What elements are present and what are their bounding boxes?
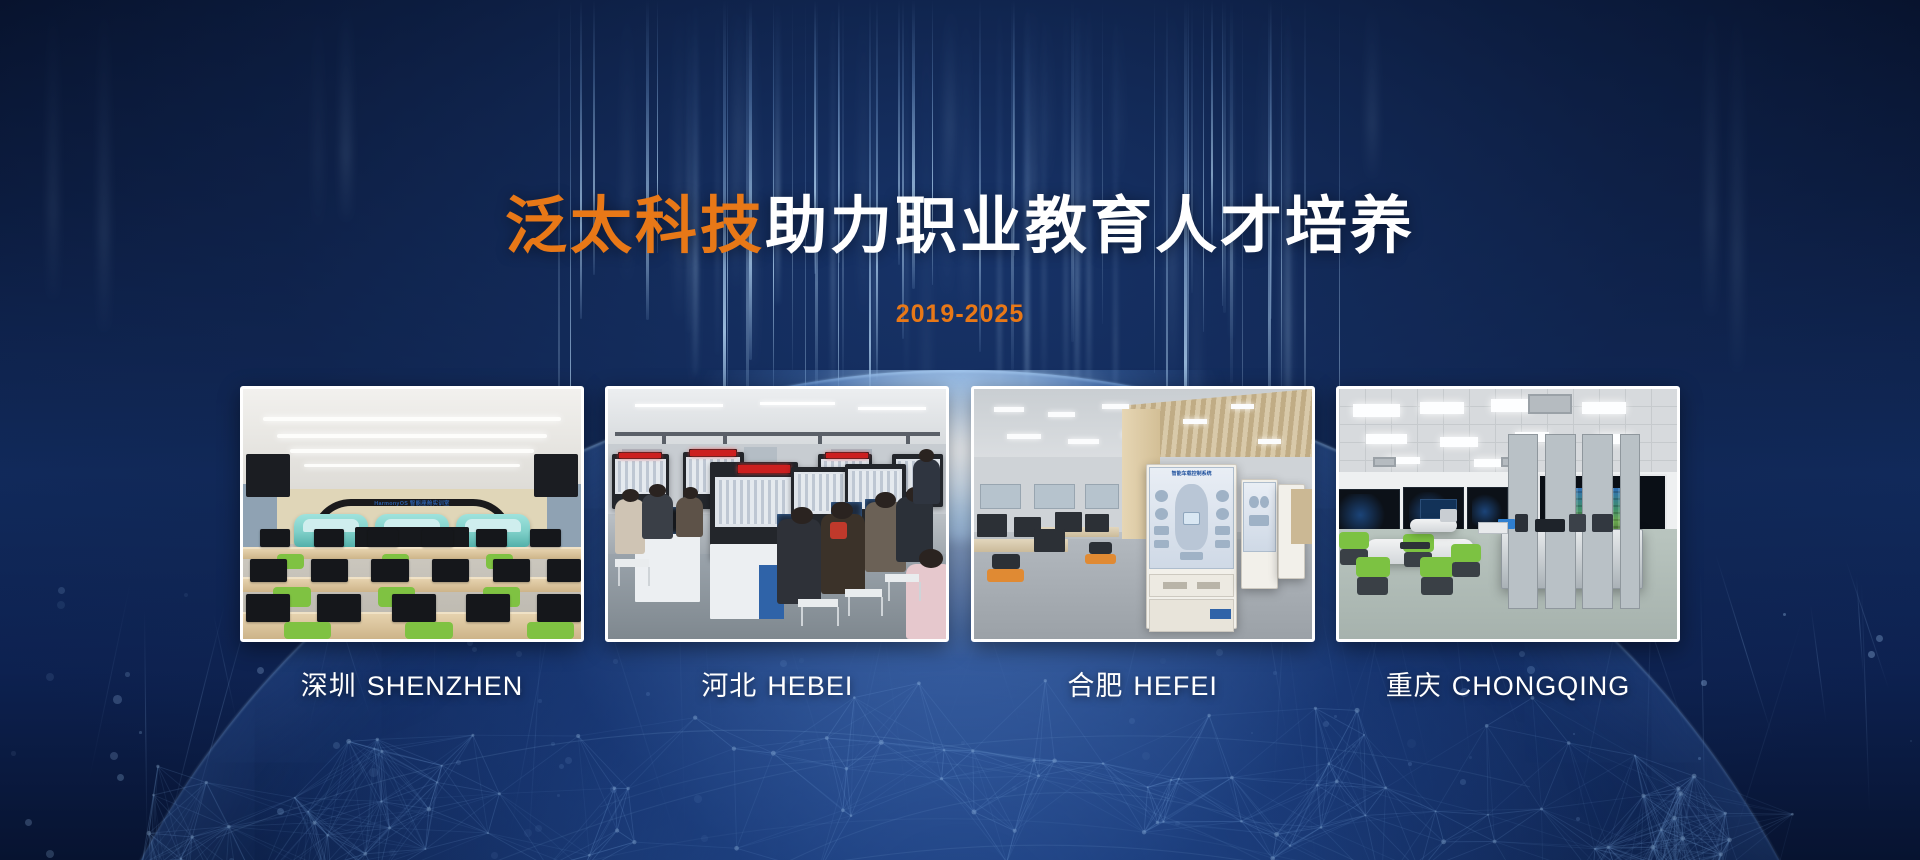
caption-chongqing: 重庆CHONGQING xyxy=(1336,664,1680,703)
caption-cn: 深圳 xyxy=(301,671,357,701)
caption-hefei: 合肥HEFEI xyxy=(971,664,1315,703)
photo-frame-hebei[interactable] xyxy=(605,386,949,642)
gallery-item-shenzhen[interactable]: HarmonyOS 智能座舱实训室 xyxy=(240,386,584,703)
photo-sign-text: 智能车载控制系统 xyxy=(1150,470,1233,477)
caption-en: CHONGQING xyxy=(1452,671,1631,701)
gallery-item-hefei[interactable]: 智能车载控制系统 xyxy=(971,386,1315,703)
photo-chongqing-smart-manufacturing-lab xyxy=(1339,389,1677,639)
photo-frame-chongqing[interactable] xyxy=(1336,386,1680,642)
photo-shenzhen-harmonyos-cockpit-lab: HarmonyOS 智能座舱实训室 xyxy=(243,389,581,639)
title-rest: 助力职业教育人才培养 xyxy=(765,192,1415,261)
caption-en: HEFEI xyxy=(1133,671,1218,701)
caption-en: HEBEI xyxy=(767,671,853,701)
page-title: 泛太科技助力职业教育人才培养 xyxy=(0,196,1920,258)
caption-cn: 重庆 xyxy=(1386,671,1442,701)
gallery-item-chongqing[interactable]: 重庆CHONGQING xyxy=(1336,386,1680,703)
photo-frame-shenzhen[interactable]: HarmonyOS 智能座舱实训室 xyxy=(240,386,584,642)
photo-sign-text: HarmonyOS 智能座舱实训室 xyxy=(374,499,450,507)
photo-hefei-vehicle-control-system-lab: 智能车载控制系统 xyxy=(974,389,1312,639)
subtitle-year-range: 2019-2025 xyxy=(0,300,1920,329)
title-brand: 泛太科技 xyxy=(505,192,765,261)
caption-shenzhen: 深圳SHENZHEN xyxy=(240,664,584,703)
caption-cn: 合肥 xyxy=(1067,671,1123,701)
caption-cn: 河北 xyxy=(701,671,757,701)
photo-frame-hefei[interactable]: 智能车载控制系统 xyxy=(971,386,1315,642)
gallery-item-hebei[interactable]: 河北HEBEI xyxy=(605,386,949,703)
photo-gallery: HarmonyOS 智能座舱实训室 xyxy=(240,386,1680,703)
caption-en: SHENZHEN xyxy=(367,671,524,701)
caption-hebei: 河北HEBEI xyxy=(605,664,949,703)
photo-hebei-electrical-training-room xyxy=(608,389,946,639)
banner-stage: 泛太科技助力职业教育人才培养 2019-2025 HarmonyOS 智能座舱实… xyxy=(0,0,1920,860)
